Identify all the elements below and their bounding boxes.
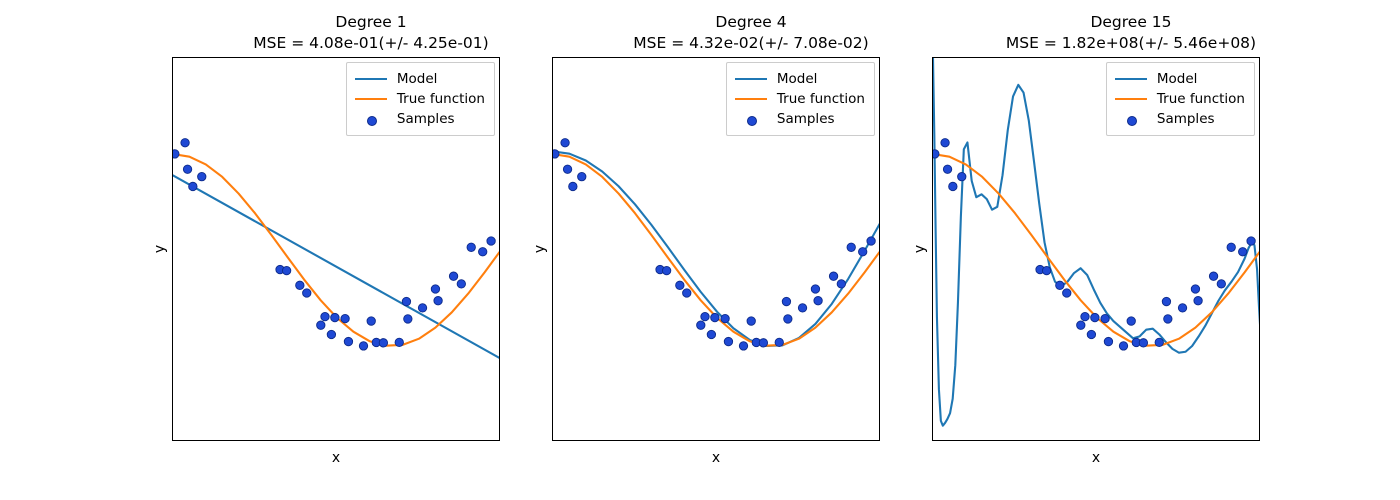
x-axis-label: x [172, 450, 500, 466]
sample-point [467, 243, 475, 251]
sample-point [1191, 285, 1199, 293]
sample-point [1077, 321, 1085, 329]
x-axis-label: x [552, 450, 880, 466]
subplot-title: Degree 15MSE = 1.82e+08(+/- 5.46e+08) [898, 12, 1364, 54]
sample-point [775, 338, 783, 346]
sample-point [1104, 337, 1112, 345]
sample-point [198, 172, 206, 180]
sample-point [379, 339, 387, 347]
sample-point [395, 338, 403, 346]
sample-point [1127, 317, 1135, 325]
legend: ModelTrue functionSamples [346, 62, 495, 136]
sample-point [1139, 339, 1147, 347]
sample-point [1247, 237, 1255, 245]
legend-item-label: True function [1157, 91, 1245, 107]
sample-point [1209, 272, 1217, 280]
sample-point [431, 285, 439, 293]
sample-point [402, 297, 410, 305]
series-scatter-samples [933, 139, 1255, 351]
legend-line-swatch-icon [734, 92, 768, 106]
sample-point [317, 321, 325, 329]
legend-line-swatch-icon [354, 92, 388, 106]
sample-point [782, 297, 790, 305]
sample-point [837, 280, 845, 288]
sample-point [701, 312, 709, 320]
sample-point [1087, 330, 1095, 338]
y-axis-label: y [130, 57, 190, 441]
legend-marker-swatch-icon [354, 112, 388, 126]
sample-point [958, 172, 966, 180]
sample-point [662, 266, 670, 274]
sample-point [811, 285, 819, 293]
sample-point [341, 314, 349, 322]
legend-item-samples: Samples [734, 109, 865, 129]
sample-point [858, 248, 866, 256]
sample-point [1217, 280, 1225, 288]
y-axis-label-text: y [532, 245, 548, 253]
legend-item-label: Samples [397, 111, 455, 127]
sample-point [747, 317, 755, 325]
sample-point [724, 337, 732, 345]
subplot-title-line1: Degree 15 [898, 12, 1364, 33]
sample-point [847, 243, 855, 251]
sample-point [1194, 296, 1202, 304]
legend-item-label: Model [777, 71, 818, 87]
legend-line-swatch-icon [734, 72, 768, 86]
sample-point [1178, 304, 1186, 312]
legend-item-true-function: True function [354, 89, 485, 109]
sample-point [434, 296, 442, 304]
series-line-model [173, 175, 500, 358]
legend-item-samples: Samples [354, 109, 485, 129]
sample-point [721, 314, 729, 322]
subplot-degree-15: Degree 15MSE = 1.82e+08(+/- 5.46e+08)Mod… [898, 0, 1364, 500]
sample-point [784, 315, 792, 323]
legend-item-label: True function [777, 91, 865, 107]
legend-item-label: Samples [777, 111, 835, 127]
y-axis-label-text: y [152, 245, 168, 253]
figure-canvas: Degree 1MSE = 4.08e-01(+/- 4.25e-01)Mode… [0, 0, 1400, 500]
sample-point [829, 272, 837, 280]
sample-point [578, 172, 586, 180]
sample-point [1081, 312, 1089, 320]
sample-point [457, 280, 465, 288]
sample-point [697, 321, 705, 329]
legend-item-label: Model [1157, 71, 1198, 87]
legend-item-samples: Samples [1114, 109, 1245, 129]
legend-item-label: Samples [1157, 111, 1215, 127]
sample-point [1042, 266, 1050, 274]
sample-point [296, 281, 304, 289]
plot-area: ModelTrue functionSamples [932, 57, 1260, 441]
sample-point [759, 339, 767, 347]
sample-point [327, 330, 335, 338]
legend-item-model: Model [734, 69, 865, 89]
series-scatter-samples [173, 139, 495, 351]
sample-point [814, 296, 822, 304]
plot-area: ModelTrue functionSamples [552, 57, 880, 441]
legend-item-model: Model [1114, 69, 1245, 89]
sample-point [359, 342, 367, 350]
legend-marker-swatch-icon [1114, 112, 1148, 126]
sample-point [449, 272, 457, 280]
sample-point [1164, 315, 1172, 323]
legend: ModelTrue functionSamples [1106, 62, 1255, 136]
sample-point [711, 313, 719, 321]
sample-point [1238, 248, 1246, 256]
subplot-title-line2: MSE = 1.82e+08(+/- 5.46e+08) [898, 33, 1364, 54]
legend-item-model: Model [354, 69, 485, 89]
sample-point [1101, 314, 1109, 322]
sample-point [676, 281, 684, 289]
legend-marker-swatch-icon [734, 112, 768, 126]
sample-point [321, 312, 329, 320]
sample-point [1227, 243, 1235, 251]
sample-point [282, 266, 290, 274]
sample-point [303, 289, 311, 297]
legend-line-swatch-icon [1114, 72, 1148, 86]
sample-point [1063, 289, 1071, 297]
legend-item-label: True function [397, 91, 485, 107]
sample-point [1119, 342, 1127, 350]
y-axis-label: y [890, 57, 950, 441]
plot-area: ModelTrue functionSamples [172, 57, 500, 441]
y-axis-label-text: y [912, 245, 928, 253]
legend-item-true-function: True function [1114, 89, 1245, 109]
sample-point [1155, 338, 1163, 346]
y-axis-label: y [510, 57, 570, 441]
sample-point [739, 342, 747, 350]
sample-point [331, 313, 339, 321]
sample-point [683, 289, 691, 297]
sample-point [867, 237, 875, 245]
sample-point [478, 248, 486, 256]
x-axis-label: x [932, 450, 1260, 466]
sample-point [1091, 313, 1099, 321]
legend-item-label: Model [397, 71, 438, 87]
sample-point [707, 330, 715, 338]
legend-line-swatch-icon [354, 72, 388, 86]
sample-point [798, 304, 806, 312]
sample-point [487, 237, 495, 245]
sample-point [344, 337, 352, 345]
sample-point [367, 317, 375, 325]
legend-item-true-function: True function [734, 89, 865, 109]
sample-point [1162, 297, 1170, 305]
sample-point [404, 315, 412, 323]
sample-point [418, 304, 426, 312]
legend: ModelTrue functionSamples [726, 62, 875, 136]
legend-line-swatch-icon [1114, 92, 1148, 106]
sample-point [1056, 281, 1064, 289]
